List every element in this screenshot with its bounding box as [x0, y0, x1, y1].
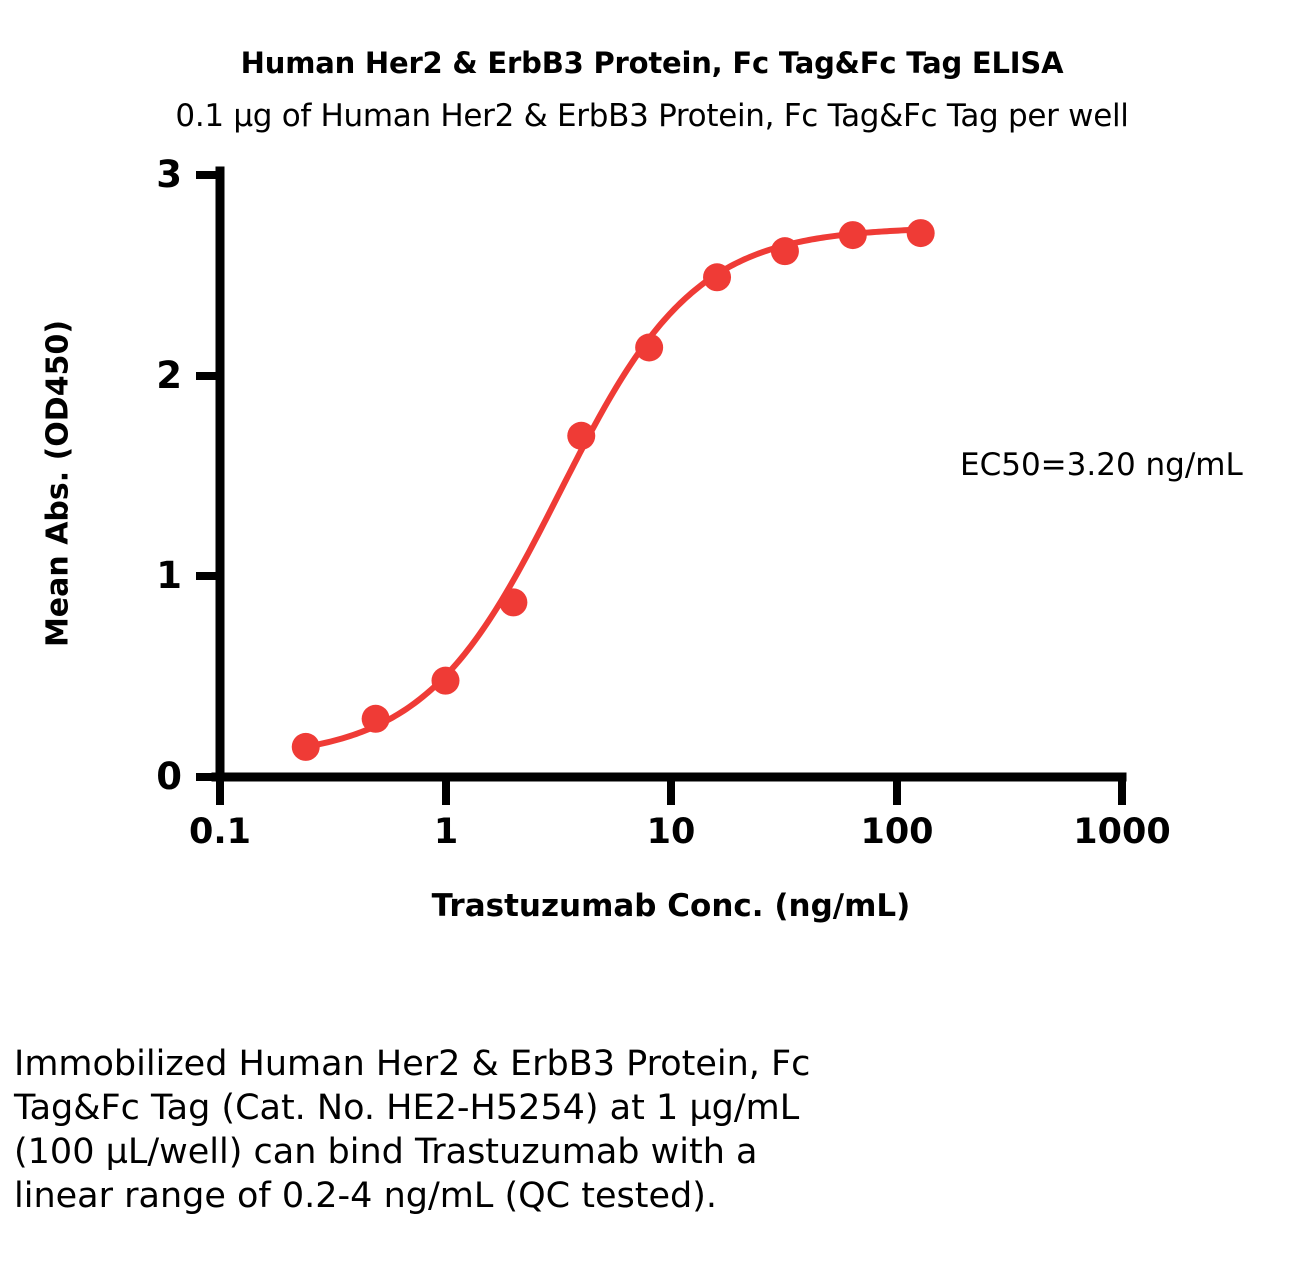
data-point	[907, 219, 935, 247]
data-point	[292, 733, 320, 761]
y-tick-label-0: 0	[112, 758, 182, 795]
x-tick-label-100: 100	[817, 815, 977, 850]
data-point	[635, 334, 663, 362]
caption-line-3: (100 µL/well) can bind Trastuzumab with …	[14, 1130, 1074, 1174]
x-tick-label-0.1: 0.1	[140, 815, 300, 850]
data-point	[362, 705, 390, 733]
elisa-figure: Human Her2 & ErbB3 Protein, Fc Tag&Fc Ta…	[0, 0, 1304, 1268]
caption-line-2: Tag&Fc Tag (Cat. No. HE2-H5254) at 1 µg/…	[14, 1086, 1074, 1130]
data-point	[432, 667, 460, 695]
y-tick-label-2: 2	[112, 357, 182, 394]
x-axis-title: Trastuzumab Conc. (ng/mL)	[220, 888, 1122, 924]
y-axis-title: Mean Abs. (OD450)	[41, 304, 76, 664]
x-tick-label-1: 1	[366, 815, 526, 850]
data-point	[703, 263, 731, 291]
y-tick-label-3: 3	[112, 156, 182, 193]
data-point	[499, 588, 527, 616]
x-tick-label-1000: 1000	[1042, 815, 1202, 850]
x-tick-label-10: 10	[591, 815, 751, 850]
data-point	[771, 237, 799, 265]
data-point	[839, 221, 867, 249]
y-tick-label-1: 1	[112, 557, 182, 594]
data-point-markers	[292, 219, 935, 761]
figure-caption: Immobilized Human Her2 & ErbB3 Protein, …	[14, 1042, 1074, 1218]
caption-line-1: Immobilized Human Her2 & ErbB3 Protein, …	[14, 1042, 1074, 1086]
caption-line-4: linear range of 0.2-4 ng/mL (QC tested).	[14, 1174, 1074, 1218]
fit-curve	[306, 230, 921, 747]
ec50-annotation: EC50=3.20 ng/mL	[960, 447, 1243, 483]
data-point	[567, 422, 595, 450]
